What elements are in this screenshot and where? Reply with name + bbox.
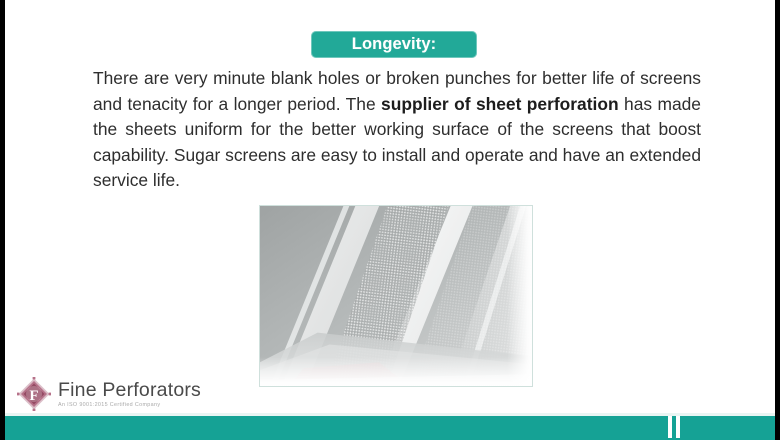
page-title: Longevity:	[352, 36, 436, 53]
pause-icon[interactable]	[668, 416, 684, 438]
company-logo: F SINCE 1983 Fine Perforators An ISO 900…	[17, 373, 197, 415]
pause-bar-left	[668, 416, 672, 438]
perforated-sheet-illustration	[260, 206, 532, 386]
company-tagline: An ISO 9001:2015 Certified Company	[58, 401, 201, 409]
fine-perforators-diamond-icon: F SINCE 1983	[17, 377, 51, 411]
slide-image-container	[259, 205, 533, 387]
video-player-bar[interactable]	[5, 416, 775, 440]
perforated-sheet-photo	[259, 205, 533, 387]
logo-text-block: Fine Perforators An ISO 9001:2015 Certif…	[58, 380, 201, 409]
svg-text:F: F	[29, 388, 38, 404]
presentation-slide: Longevity: There are very minute blank h…	[0, 0, 780, 440]
company-name: Fine Perforators	[58, 380, 201, 401]
slide-body-text: There are very minute blank holes or bro…	[93, 66, 701, 194]
slide-title-badge: Longevity:	[311, 31, 477, 58]
diamond-f-emblem-icon: F	[17, 377, 51, 411]
body-text-bold-phrase: supplier of sheet perforation	[381, 94, 619, 114]
pause-bar-right	[676, 416, 680, 438]
